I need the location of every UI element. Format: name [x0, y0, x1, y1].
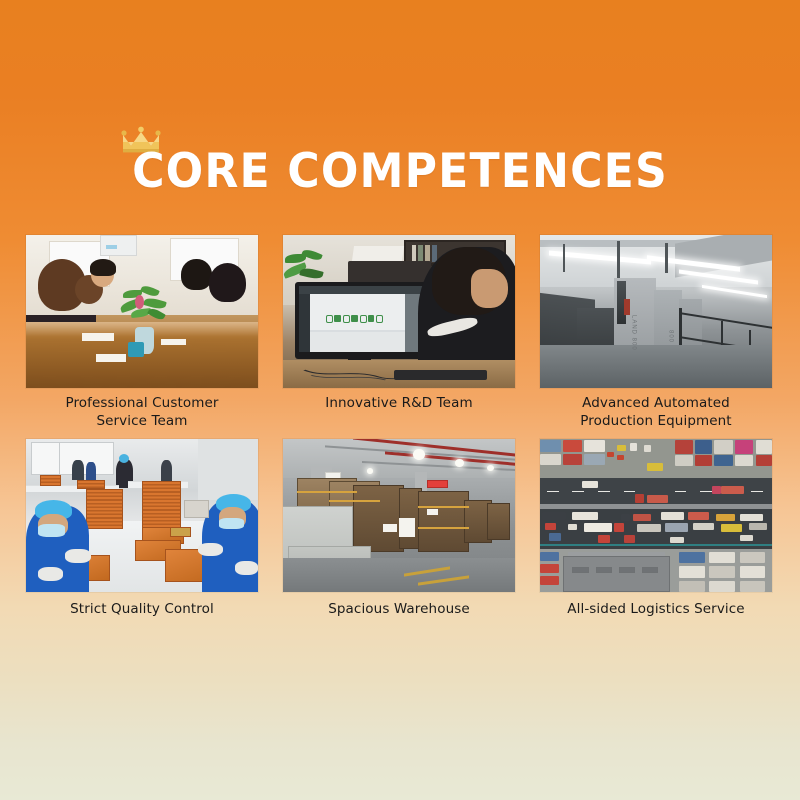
caption-strict-quality-control: Strict Quality Control [26, 592, 258, 619]
scene-printing-press: LAND 800 800 [540, 235, 772, 388]
scene-quality-control [26, 439, 258, 592]
caption-advanced-automated-production-equipment: Advanced Automated Production Equipment [540, 388, 772, 431]
page-title: CORE COMPETENCES [132, 148, 668, 195]
scene-meeting-room [26, 235, 258, 388]
caption-line-1: All-sided Logistics Service [567, 601, 744, 617]
photo-advanced-automated-production-equipment[interactable]: LAND 800 800 [540, 235, 772, 388]
page-title-block: CORE COMPETENCES [0, 148, 800, 195]
scene-warehouse [283, 439, 515, 592]
grid-row-2: Strict Quality Control [26, 439, 774, 619]
caption-line-1: Strict Quality Control [70, 601, 214, 617]
poster-root: CORE COMPETENCES [0, 0, 800, 800]
caption-line-1: Professional Customer [65, 395, 218, 411]
card-spacious-warehouse[interactable]: Spacious Warehouse [283, 439, 515, 619]
card-innovative-rd-team[interactable]: Innovative R&D Team [283, 235, 515, 431]
photo-professional-customer-service-team[interactable] [26, 235, 258, 388]
caption-professional-customer-service-team: Professional Customer Service Team [26, 388, 258, 431]
card-strict-quality-control[interactable]: Strict Quality Control [26, 439, 258, 619]
photo-strict-quality-control[interactable] [26, 439, 258, 592]
photo-all-sided-logistics-service[interactable] [540, 439, 772, 592]
card-advanced-automated-production-equipment[interactable]: LAND 800 800 Advanced Automated Producti… [540, 235, 772, 431]
photo-innovative-rd-team[interactable] [283, 235, 515, 388]
card-all-sided-logistics-service[interactable]: All-sided Logistics Service [540, 439, 772, 619]
grid-row-1: Professional Customer Service Team [26, 235, 774, 431]
caption-all-sided-logistics-service: All-sided Logistics Service [540, 592, 772, 619]
competence-grid: Professional Customer Service Team [26, 235, 774, 618]
caption-spacious-warehouse: Spacious Warehouse [283, 592, 515, 619]
scene-aerial-logistics [540, 439, 772, 592]
caption-line-1: Innovative R&D Team [325, 395, 472, 411]
caption-line-2: Production Equipment [580, 413, 731, 429]
card-professional-customer-service-team[interactable]: Professional Customer Service Team [26, 235, 258, 431]
scene-rd-workstation [283, 235, 515, 388]
caption-line-1: Advanced Automated [582, 395, 730, 411]
caption-line-1: Spacious Warehouse [328, 601, 470, 617]
photo-spacious-warehouse[interactable] [283, 439, 515, 592]
caption-line-2: Service Team [96, 413, 187, 429]
title-inner: CORE COMPETENCES [115, 148, 685, 195]
caption-innovative-rd-team: Innovative R&D Team [283, 388, 515, 413]
